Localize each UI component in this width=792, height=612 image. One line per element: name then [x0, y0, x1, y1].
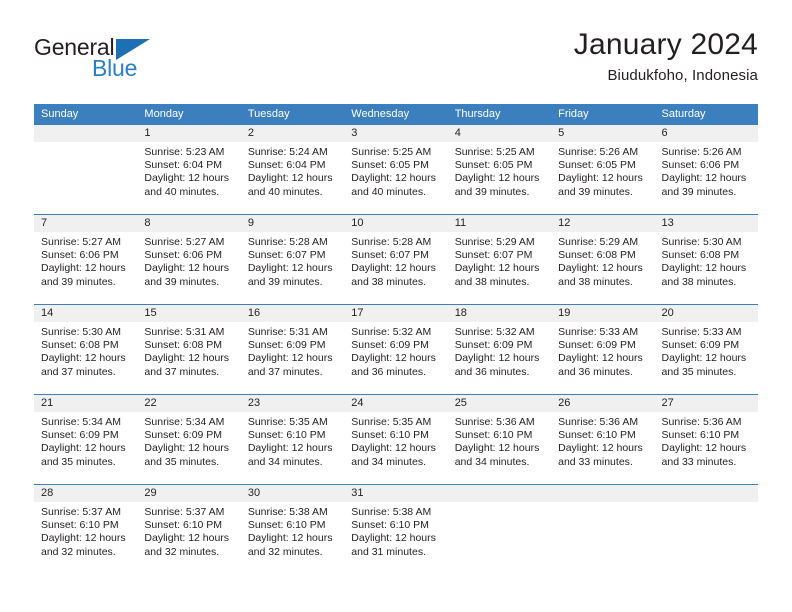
daylight-text-line2: and 37 minutes. — [41, 366, 131, 379]
day-details: Sunrise: 5:23 AMSunset: 6:04 PMDaylight:… — [137, 142, 240, 199]
week-row: 21Sunrise: 5:34 AMSunset: 6:09 PMDayligh… — [34, 394, 758, 484]
sunrise-text: Sunrise: 5:26 AM — [558, 146, 648, 159]
sunrise-text: Sunrise: 5:27 AM — [144, 236, 234, 249]
daylight-text-line2: and 32 minutes. — [144, 546, 234, 559]
day-cell[interactable]: 6Sunrise: 5:26 AMSunset: 6:06 PMDaylight… — [655, 125, 758, 214]
day-details: Sunrise: 5:27 AMSunset: 6:06 PMDaylight:… — [137, 232, 240, 289]
day-details: Sunrise: 5:30 AMSunset: 6:08 PMDaylight:… — [34, 322, 137, 379]
day-details: Sunrise: 5:30 AMSunset: 6:08 PMDaylight:… — [655, 232, 758, 289]
sunrise-text: Sunrise: 5:31 AM — [144, 326, 234, 339]
page-title: January 2024 — [574, 28, 758, 62]
sunrise-text: Sunrise: 5:35 AM — [351, 416, 441, 429]
daylight-text-line1: Daylight: 12 hours — [558, 352, 648, 365]
sunset-text: Sunset: 6:04 PM — [144, 159, 234, 172]
weekday-header-wednesday: Wednesday — [344, 104, 447, 125]
sunset-text: Sunset: 6:08 PM — [662, 249, 752, 262]
sunrise-text: Sunrise: 5:27 AM — [41, 236, 131, 249]
day-number: 16 — [241, 305, 344, 322]
day-number: 18 — [448, 305, 551, 322]
sunrise-text: Sunrise: 5:32 AM — [351, 326, 441, 339]
daylight-text-line2: and 39 minutes. — [455, 186, 545, 199]
sunrise-text: Sunrise: 5:33 AM — [662, 326, 752, 339]
day-cell[interactable]: 2Sunrise: 5:24 AMSunset: 6:04 PMDaylight… — [241, 125, 344, 214]
sunset-text: Sunset: 6:10 PM — [351, 519, 441, 532]
day-details: Sunrise: 5:28 AMSunset: 6:07 PMDaylight:… — [344, 232, 447, 289]
sunrise-text: Sunrise: 5:26 AM — [662, 146, 752, 159]
day-number: 28 — [34, 485, 137, 502]
daylight-text-line1: Daylight: 12 hours — [455, 172, 545, 185]
daylight-text-line1: Daylight: 12 hours — [455, 262, 545, 275]
day-cell[interactable]: 26Sunrise: 5:36 AMSunset: 6:10 PMDayligh… — [551, 395, 654, 484]
sunset-text: Sunset: 6:10 PM — [455, 429, 545, 442]
sunrise-text: Sunrise: 5:36 AM — [455, 416, 545, 429]
sunrise-text: Sunrise: 5:34 AM — [41, 416, 131, 429]
page-subtitle: Biudukfoho, Indonesia — [574, 67, 758, 84]
day-details: Sunrise: 5:28 AMSunset: 6:07 PMDaylight:… — [241, 232, 344, 289]
day-details: Sunrise: 5:36 AMSunset: 6:10 PMDaylight:… — [551, 412, 654, 469]
day-number: 26 — [551, 395, 654, 412]
day-cell[interactable]: 3Sunrise: 5:25 AMSunset: 6:05 PMDaylight… — [344, 125, 447, 214]
day-number: 4 — [448, 125, 551, 142]
day-cell[interactable]: 7Sunrise: 5:27 AMSunset: 6:06 PMDaylight… — [34, 215, 137, 304]
sunrise-text: Sunrise: 5:28 AM — [351, 236, 441, 249]
daylight-text-line2: and 35 minutes. — [144, 456, 234, 469]
sunset-text: Sunset: 6:07 PM — [351, 249, 441, 262]
sunrise-text: Sunrise: 5:38 AM — [248, 506, 338, 519]
day-number: 17 — [344, 305, 447, 322]
day-number: 11 — [448, 215, 551, 232]
daylight-text-line1: Daylight: 12 hours — [144, 352, 234, 365]
day-number: 9 — [241, 215, 344, 232]
day-number — [448, 485, 551, 502]
sunset-text: Sunset: 6:06 PM — [41, 249, 131, 262]
daylight-text-line1: Daylight: 12 hours — [662, 442, 752, 455]
daylight-text-line2: and 36 minutes. — [558, 366, 648, 379]
daylight-text-line1: Daylight: 12 hours — [248, 352, 338, 365]
calendar-page: General Blue January 2024 Biudukfoho, In… — [0, 0, 792, 612]
week-row: 1Sunrise: 5:23 AMSunset: 6:04 PMDaylight… — [34, 125, 758, 214]
daylight-text-line1: Daylight: 12 hours — [248, 172, 338, 185]
sunrise-text: Sunrise: 5:36 AM — [558, 416, 648, 429]
sunset-text: Sunset: 6:09 PM — [455, 339, 545, 352]
day-cell-empty — [655, 485, 758, 574]
daylight-text-line1: Daylight: 12 hours — [662, 262, 752, 275]
sunset-text: Sunset: 6:07 PM — [248, 249, 338, 262]
sunset-text: Sunset: 6:04 PM — [248, 159, 338, 172]
daylight-text-line2: and 36 minutes. — [455, 366, 545, 379]
daylight-text-line1: Daylight: 12 hours — [351, 262, 441, 275]
daylight-text-line2: and 33 minutes. — [662, 456, 752, 469]
daylight-text-line1: Daylight: 12 hours — [41, 352, 131, 365]
page-header: General Blue January 2024 Biudukfoho, In… — [34, 28, 758, 94]
day-cell[interactable]: 15Sunrise: 5:31 AMSunset: 6:08 PMDayligh… — [137, 305, 240, 394]
day-number: 22 — [137, 395, 240, 412]
sunset-text: Sunset: 6:07 PM — [455, 249, 545, 262]
day-number: 19 — [551, 305, 654, 322]
sunset-text: Sunset: 6:08 PM — [41, 339, 131, 352]
day-details: Sunrise: 5:34 AMSunset: 6:09 PMDaylight:… — [34, 412, 137, 469]
daylight-text-line2: and 38 minutes. — [558, 276, 648, 289]
sunset-text: Sunset: 6:05 PM — [351, 159, 441, 172]
day-number: 10 — [344, 215, 447, 232]
day-details: Sunrise: 5:33 AMSunset: 6:09 PMDaylight:… — [551, 322, 654, 379]
sunset-text: Sunset: 6:09 PM — [558, 339, 648, 352]
sunrise-text: Sunrise: 5:37 AM — [41, 506, 131, 519]
daylight-text-line2: and 40 minutes. — [351, 186, 441, 199]
day-cell[interactable]: 9Sunrise: 5:28 AMSunset: 6:07 PMDaylight… — [241, 215, 344, 304]
day-details: Sunrise: 5:25 AMSunset: 6:05 PMDaylight:… — [448, 142, 551, 199]
sunset-text: Sunset: 6:08 PM — [558, 249, 648, 262]
calendar-body: 1Sunrise: 5:23 AMSunset: 6:04 PMDaylight… — [34, 125, 758, 574]
day-details: Sunrise: 5:27 AMSunset: 6:06 PMDaylight:… — [34, 232, 137, 289]
day-details: Sunrise: 5:26 AMSunset: 6:05 PMDaylight:… — [551, 142, 654, 199]
day-details: Sunrise: 5:33 AMSunset: 6:09 PMDaylight:… — [655, 322, 758, 379]
sunset-text: Sunset: 6:09 PM — [41, 429, 131, 442]
day-number: 5 — [551, 125, 654, 142]
sunrise-text: Sunrise: 5:30 AM — [41, 326, 131, 339]
daylight-text-line2: and 39 minutes. — [41, 276, 131, 289]
day-cell[interactable]: 19Sunrise: 5:33 AMSunset: 6:09 PMDayligh… — [551, 305, 654, 394]
calendar-grid: SundayMondayTuesdayWednesdayThursdayFrid… — [34, 104, 758, 574]
day-details: Sunrise: 5:26 AMSunset: 6:06 PMDaylight:… — [655, 142, 758, 199]
daylight-text-line2: and 38 minutes. — [351, 276, 441, 289]
daylight-text-line2: and 31 minutes. — [351, 546, 441, 559]
sunset-text: Sunset: 6:10 PM — [248, 429, 338, 442]
day-number — [34, 125, 137, 142]
day-cell-empty — [34, 125, 137, 214]
daylight-text-line2: and 39 minutes. — [144, 276, 234, 289]
title-block: January 2024 Biudukfoho, Indonesia — [574, 28, 758, 84]
general-blue-logo[interactable]: General Blue — [34, 34, 214, 90]
day-cell[interactable]: 14Sunrise: 5:30 AMSunset: 6:08 PMDayligh… — [34, 305, 137, 394]
day-cell[interactable]: 16Sunrise: 5:31 AMSunset: 6:09 PMDayligh… — [241, 305, 344, 394]
sunrise-text: Sunrise: 5:31 AM — [248, 326, 338, 339]
sunrise-text: Sunrise: 5:36 AM — [662, 416, 752, 429]
day-number — [655, 485, 758, 502]
sunset-text: Sunset: 6:09 PM — [351, 339, 441, 352]
daylight-text-line2: and 38 minutes. — [455, 276, 545, 289]
day-details: Sunrise: 5:36 AMSunset: 6:10 PMDaylight:… — [448, 412, 551, 469]
weekday-header-saturday: Saturday — [655, 104, 758, 125]
day-details: Sunrise: 5:34 AMSunset: 6:09 PMDaylight:… — [137, 412, 240, 469]
sunrise-text: Sunrise: 5:33 AM — [558, 326, 648, 339]
day-number: 14 — [34, 305, 137, 322]
day-number: 3 — [344, 125, 447, 142]
day-cell[interactable]: 27Sunrise: 5:36 AMSunset: 6:10 PMDayligh… — [655, 395, 758, 484]
logo-text-blue: Blue — [92, 55, 137, 82]
day-number: 13 — [655, 215, 758, 232]
day-cell[interactable]: 13Sunrise: 5:30 AMSunset: 6:08 PMDayligh… — [655, 215, 758, 304]
sunset-text: Sunset: 6:09 PM — [662, 339, 752, 352]
day-details: Sunrise: 5:36 AMSunset: 6:10 PMDaylight:… — [655, 412, 758, 469]
daylight-text-line1: Daylight: 12 hours — [455, 442, 545, 455]
daylight-text-line1: Daylight: 12 hours — [351, 172, 441, 185]
day-number: 24 — [344, 395, 447, 412]
daylight-text-line1: Daylight: 12 hours — [662, 352, 752, 365]
day-details: Sunrise: 5:25 AMSunset: 6:05 PMDaylight:… — [344, 142, 447, 199]
day-details: Sunrise: 5:29 AMSunset: 6:07 PMDaylight:… — [448, 232, 551, 289]
day-number: 29 — [137, 485, 240, 502]
day-number — [551, 485, 654, 502]
sunset-text: Sunset: 6:09 PM — [248, 339, 338, 352]
day-details: Sunrise: 5:32 AMSunset: 6:09 PMDaylight:… — [448, 322, 551, 379]
day-number: 2 — [241, 125, 344, 142]
sunrise-text: Sunrise: 5:38 AM — [351, 506, 441, 519]
sunrise-text: Sunrise: 5:24 AM — [248, 146, 338, 159]
sunset-text: Sunset: 6:05 PM — [455, 159, 545, 172]
day-details: Sunrise: 5:35 AMSunset: 6:10 PMDaylight:… — [241, 412, 344, 469]
day-number: 15 — [137, 305, 240, 322]
day-cell[interactable]: 31Sunrise: 5:38 AMSunset: 6:10 PMDayligh… — [344, 485, 447, 574]
day-cell[interactable]: 1Sunrise: 5:23 AMSunset: 6:04 PMDaylight… — [137, 125, 240, 214]
weekday-header-sunday: Sunday — [34, 104, 137, 125]
daylight-text-line2: and 40 minutes. — [144, 186, 234, 199]
daylight-text-line1: Daylight: 12 hours — [558, 172, 648, 185]
daylight-text-line2: and 36 minutes. — [351, 366, 441, 379]
daylight-text-line1: Daylight: 12 hours — [248, 532, 338, 545]
sunrise-text: Sunrise: 5:28 AM — [248, 236, 338, 249]
sunset-text: Sunset: 6:10 PM — [41, 519, 131, 532]
sunrise-text: Sunrise: 5:34 AM — [144, 416, 234, 429]
day-cell[interactable]: 22Sunrise: 5:34 AMSunset: 6:09 PMDayligh… — [137, 395, 240, 484]
weekday-header-row: SundayMondayTuesdayWednesdayThursdayFrid… — [34, 104, 758, 125]
sunrise-text: Sunrise: 5:35 AM — [248, 416, 338, 429]
day-details: Sunrise: 5:38 AMSunset: 6:10 PMDaylight:… — [241, 502, 344, 559]
day-cell[interactable]: 10Sunrise: 5:28 AMSunset: 6:07 PMDayligh… — [344, 215, 447, 304]
daylight-text-line1: Daylight: 12 hours — [41, 442, 131, 455]
sunset-text: Sunset: 6:10 PM — [558, 429, 648, 442]
sunrise-text: Sunrise: 5:29 AM — [558, 236, 648, 249]
daylight-text-line1: Daylight: 12 hours — [144, 532, 234, 545]
sunset-text: Sunset: 6:06 PM — [662, 159, 752, 172]
day-number: 12 — [551, 215, 654, 232]
sunrise-text: Sunrise: 5:23 AM — [144, 146, 234, 159]
daylight-text-line2: and 39 minutes. — [662, 186, 752, 199]
daylight-text-line1: Daylight: 12 hours — [455, 352, 545, 365]
day-cell-empty — [551, 485, 654, 574]
weekday-header-thursday: Thursday — [448, 104, 551, 125]
day-number: 6 — [655, 125, 758, 142]
day-number: 1 — [137, 125, 240, 142]
day-number: 20 — [655, 305, 758, 322]
day-details: Sunrise: 5:32 AMSunset: 6:09 PMDaylight:… — [344, 322, 447, 379]
daylight-text-line1: Daylight: 12 hours — [558, 442, 648, 455]
day-cell[interactable]: 8Sunrise: 5:27 AMSunset: 6:06 PMDaylight… — [137, 215, 240, 304]
daylight-text-line2: and 37 minutes. — [248, 366, 338, 379]
daylight-text-line1: Daylight: 12 hours — [41, 532, 131, 545]
sunset-text: Sunset: 6:10 PM — [144, 519, 234, 532]
daylight-text-line2: and 34 minutes. — [351, 456, 441, 469]
daylight-text-line2: and 32 minutes. — [248, 546, 338, 559]
day-cell[interactable]: 24Sunrise: 5:35 AMSunset: 6:10 PMDayligh… — [344, 395, 447, 484]
daylight-text-line2: and 33 minutes. — [558, 456, 648, 469]
day-details: Sunrise: 5:37 AMSunset: 6:10 PMDaylight:… — [137, 502, 240, 559]
day-cell[interactable]: 5Sunrise: 5:26 AMSunset: 6:05 PMDaylight… — [551, 125, 654, 214]
daylight-text-line1: Daylight: 12 hours — [558, 262, 648, 275]
day-details: Sunrise: 5:35 AMSunset: 6:10 PMDaylight:… — [344, 412, 447, 469]
weekday-header-monday: Monday — [137, 104, 240, 125]
day-cell[interactable]: 4Sunrise: 5:25 AMSunset: 6:05 PMDaylight… — [448, 125, 551, 214]
weekday-header-tuesday: Tuesday — [241, 104, 344, 125]
sunrise-text: Sunrise: 5:29 AM — [455, 236, 545, 249]
day-cell[interactable]: 21Sunrise: 5:34 AMSunset: 6:09 PMDayligh… — [34, 395, 137, 484]
sunset-text: Sunset: 6:10 PM — [662, 429, 752, 442]
daylight-text-line2: and 37 minutes. — [144, 366, 234, 379]
week-row: 7Sunrise: 5:27 AMSunset: 6:06 PMDaylight… — [34, 214, 758, 304]
day-number: 25 — [448, 395, 551, 412]
daylight-text-line2: and 32 minutes. — [41, 546, 131, 559]
daylight-text-line1: Daylight: 12 hours — [41, 262, 131, 275]
daylight-text-line2: and 35 minutes. — [41, 456, 131, 469]
day-number: 27 — [655, 395, 758, 412]
day-cell[interactable]: 25Sunrise: 5:36 AMSunset: 6:10 PMDayligh… — [448, 395, 551, 484]
sunset-text: Sunset: 6:08 PM — [144, 339, 234, 352]
daylight-text-line1: Daylight: 12 hours — [144, 262, 234, 275]
daylight-text-line1: Daylight: 12 hours — [351, 532, 441, 545]
sunrise-text: Sunrise: 5:37 AM — [144, 506, 234, 519]
daylight-text-line2: and 40 minutes. — [248, 186, 338, 199]
day-cell[interactable]: 23Sunrise: 5:35 AMSunset: 6:10 PMDayligh… — [241, 395, 344, 484]
day-number: 30 — [241, 485, 344, 502]
day-cell[interactable]: 18Sunrise: 5:32 AMSunset: 6:09 PMDayligh… — [448, 305, 551, 394]
sunset-text: Sunset: 6:06 PM — [144, 249, 234, 262]
sunset-text: Sunset: 6:09 PM — [144, 429, 234, 442]
day-cell[interactable]: 17Sunrise: 5:32 AMSunset: 6:09 PMDayligh… — [344, 305, 447, 394]
sunrise-text: Sunrise: 5:25 AM — [455, 146, 545, 159]
day-details: Sunrise: 5:31 AMSunset: 6:08 PMDaylight:… — [137, 322, 240, 379]
day-cell-empty — [448, 485, 551, 574]
daylight-text-line2: and 39 minutes. — [558, 186, 648, 199]
sunset-text: Sunset: 6:10 PM — [248, 519, 338, 532]
day-cell[interactable]: 20Sunrise: 5:33 AMSunset: 6:09 PMDayligh… — [655, 305, 758, 394]
daylight-text-line1: Daylight: 12 hours — [662, 172, 752, 185]
day-details: Sunrise: 5:37 AMSunset: 6:10 PMDaylight:… — [34, 502, 137, 559]
daylight-text-line2: and 34 minutes. — [248, 456, 338, 469]
day-details: Sunrise: 5:29 AMSunset: 6:08 PMDaylight:… — [551, 232, 654, 289]
daylight-text-line1: Daylight: 12 hours — [351, 442, 441, 455]
sunrise-text: Sunrise: 5:30 AM — [662, 236, 752, 249]
day-number: 8 — [137, 215, 240, 232]
day-number: 31 — [344, 485, 447, 502]
daylight-text-line1: Daylight: 12 hours — [144, 442, 234, 455]
daylight-text-line2: and 34 minutes. — [455, 456, 545, 469]
daylight-text-line1: Daylight: 12 hours — [248, 262, 338, 275]
weekday-header-friday: Friday — [551, 104, 654, 125]
day-details: Sunrise: 5:24 AMSunset: 6:04 PMDaylight:… — [241, 142, 344, 199]
day-cell[interactable]: 30Sunrise: 5:38 AMSunset: 6:10 PMDayligh… — [241, 485, 344, 574]
daylight-text-line2: and 39 minutes. — [248, 276, 338, 289]
day-details: Sunrise: 5:31 AMSunset: 6:09 PMDaylight:… — [241, 322, 344, 379]
day-details: Sunrise: 5:38 AMSunset: 6:10 PMDaylight:… — [344, 502, 447, 559]
daylight-text-line2: and 38 minutes. — [662, 276, 752, 289]
sunrise-text: Sunrise: 5:32 AM — [455, 326, 545, 339]
sunset-text: Sunset: 6:05 PM — [558, 159, 648, 172]
day-cell[interactable]: 29Sunrise: 5:37 AMSunset: 6:10 PMDayligh… — [137, 485, 240, 574]
day-cell[interactable]: 11Sunrise: 5:29 AMSunset: 6:07 PMDayligh… — [448, 215, 551, 304]
day-cell[interactable]: 28Sunrise: 5:37 AMSunset: 6:10 PMDayligh… — [34, 485, 137, 574]
day-number: 21 — [34, 395, 137, 412]
day-number: 7 — [34, 215, 137, 232]
day-cell[interactable]: 12Sunrise: 5:29 AMSunset: 6:08 PMDayligh… — [551, 215, 654, 304]
week-row: 14Sunrise: 5:30 AMSunset: 6:08 PMDayligh… — [34, 304, 758, 394]
day-number: 23 — [241, 395, 344, 412]
week-row: 28Sunrise: 5:37 AMSunset: 6:10 PMDayligh… — [34, 484, 758, 574]
sunrise-text: Sunrise: 5:25 AM — [351, 146, 441, 159]
daylight-text-line1: Daylight: 12 hours — [144, 172, 234, 185]
daylight-text-line2: and 35 minutes. — [662, 366, 752, 379]
daylight-text-line1: Daylight: 12 hours — [351, 352, 441, 365]
sunset-text: Sunset: 6:10 PM — [351, 429, 441, 442]
daylight-text-line1: Daylight: 12 hours — [248, 442, 338, 455]
